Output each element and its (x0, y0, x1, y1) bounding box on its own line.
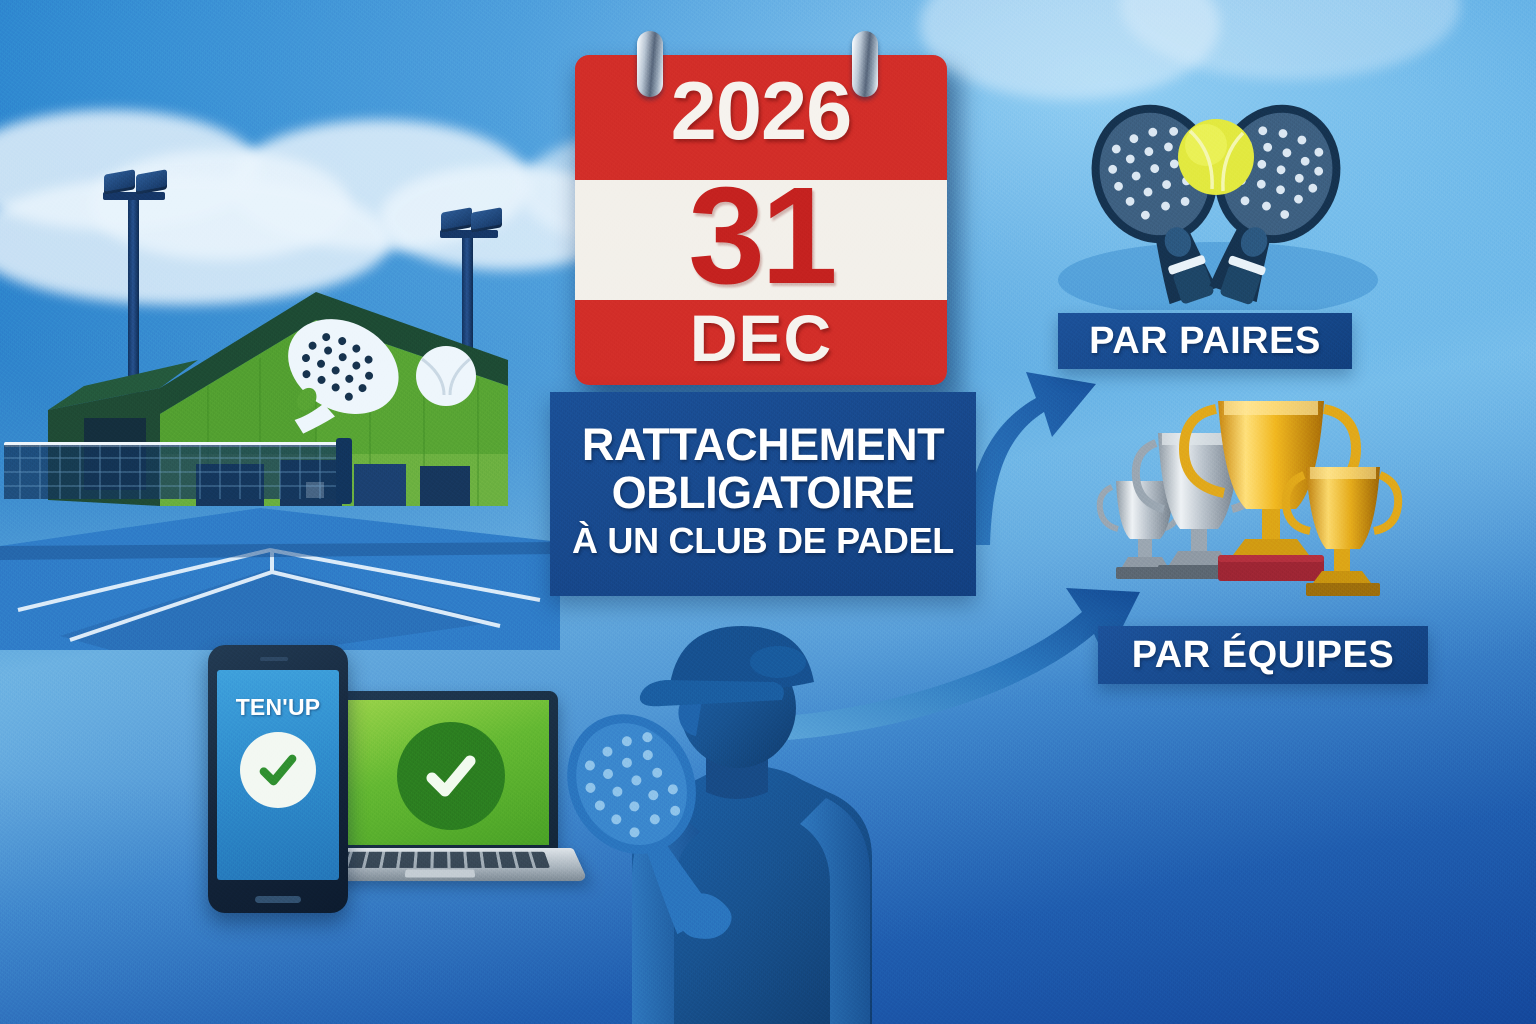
calendar-ring (852, 31, 878, 97)
smartphone: TEN'UP (208, 645, 348, 913)
label-par-paires: PAR PAIRES (1058, 313, 1352, 369)
check-icon (397, 722, 505, 830)
headline-line-1: RATTACHEMENT (582, 423, 944, 468)
laptop-screen (335, 700, 549, 845)
label-par-equipes: PAR ÉQUIPES (1098, 626, 1428, 684)
calendar-month: DEC (575, 305, 947, 371)
calendar-icon: 2026 31 DEC (575, 55, 947, 385)
label-par-paires-text: PAR PAIRES (1089, 320, 1321, 363)
headline-line-3: À UN CLUB DE PADEL (572, 518, 954, 565)
main-headline-banner: RATTACHEMENT OBLIGATOIRE À UN CLUB DE PA… (550, 392, 976, 596)
calendar-day: 31 (575, 167, 947, 305)
label-par-equipes-text: PAR ÉQUIPES (1132, 634, 1394, 677)
phone-speaker (260, 657, 288, 661)
check-icon (240, 732, 316, 808)
arrow-icon-to-pairs (963, 372, 1096, 545)
laptop-trackpad (405, 870, 476, 878)
calendar-ring (637, 31, 663, 97)
app-name-label: TEN'UP (217, 694, 339, 721)
phone-home-button (255, 896, 301, 903)
phone-screen: TEN'UP (217, 670, 339, 880)
headline-line-2: OBLIGATOIRE (612, 468, 915, 518)
infographic-poster: 2026 31 DEC RATTACHEMENT OBLIGATOIRE À U… (0, 0, 1536, 1024)
calendar-year: 2026 (575, 69, 947, 152)
laptop-keyboard (331, 852, 550, 868)
padel-player-silhouette (520, 600, 900, 1024)
